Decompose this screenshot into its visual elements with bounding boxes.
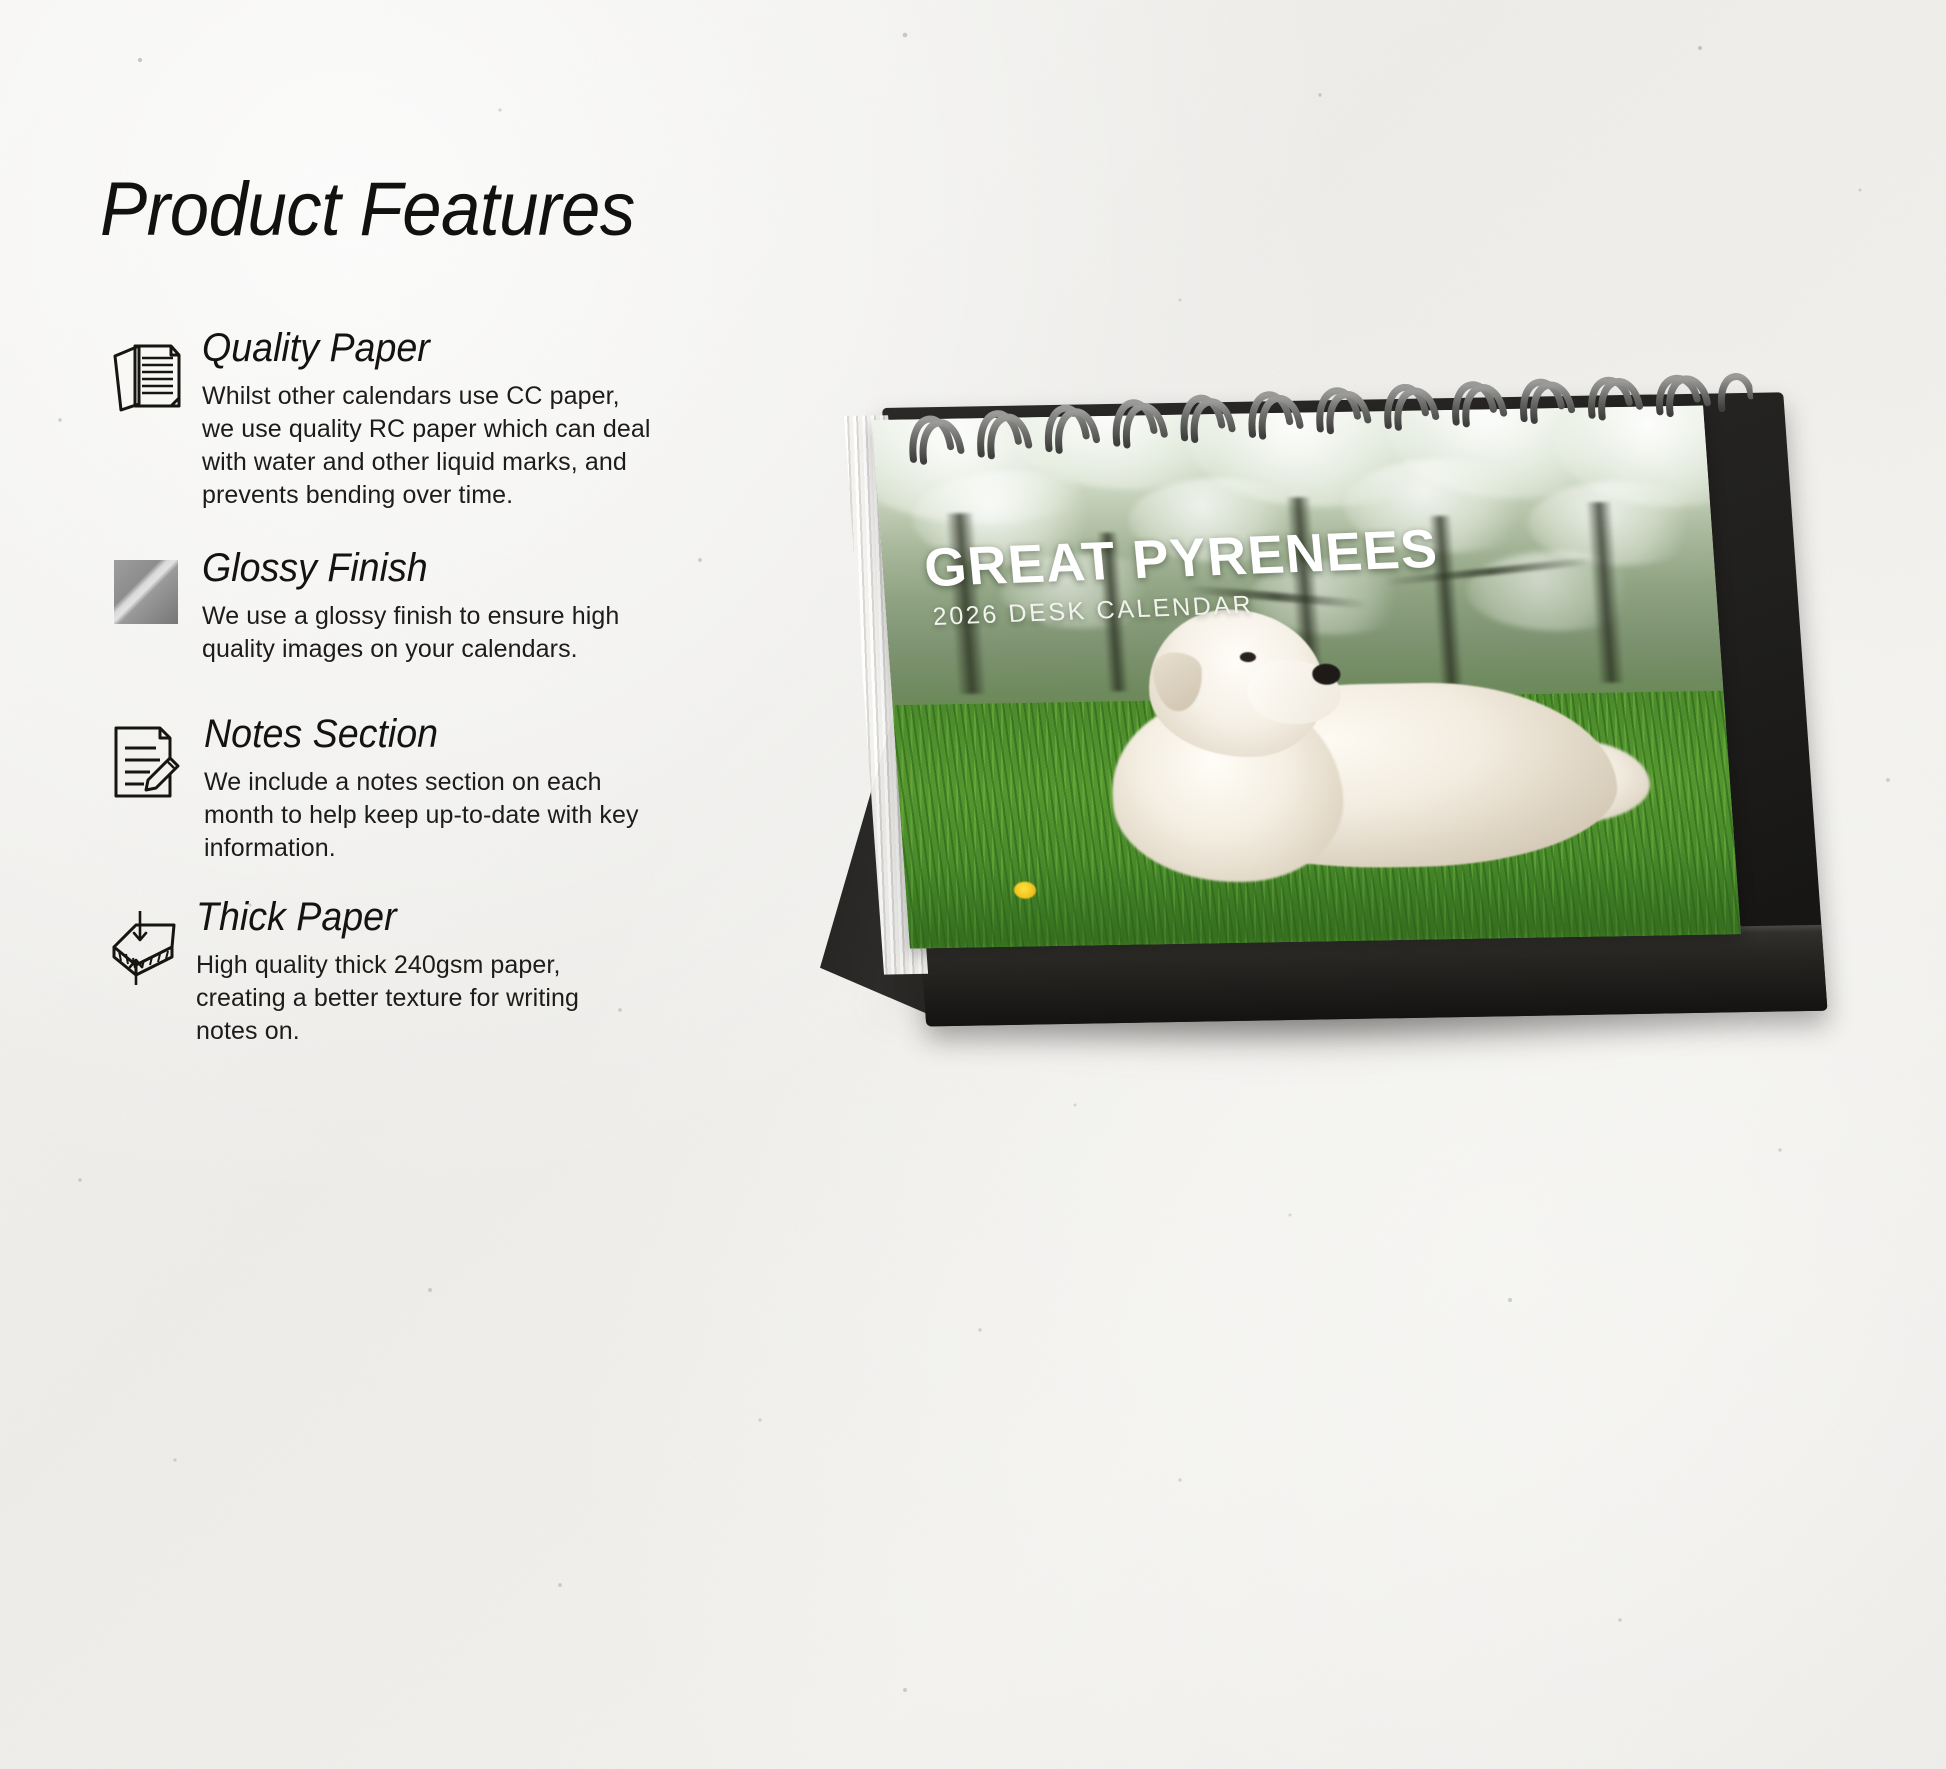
feature-item-glossy-finish: Glossy Finish We use a glossy finish to … (100, 546, 820, 666)
feature-description: We use a glossy finish to ensure high qu… (202, 600, 619, 666)
feature-item-thick-paper: Thick Paper High quality thick 240gsm pa… (100, 895, 820, 1048)
paper-thickness-icon (100, 895, 192, 987)
feature-description: We include a notes section on each month… (204, 766, 639, 865)
feature-item-quality-paper: Quality Paper Whilst other calendars use… (100, 326, 820, 512)
feature-title: Thick Paper (196, 895, 556, 939)
feature-description: High quality thick 240gsm paper, creatin… (196, 949, 579, 1048)
feature-text-block: Notes Section We include a notes section… (192, 712, 639, 865)
page-title: Product Features (100, 170, 770, 250)
feature-text-block: Thick Paper High quality thick 240gsm pa… (192, 895, 579, 1048)
great-pyrenees-dog (1077, 603, 1647, 909)
desk-calendar-mockup: GREAT PYRENEES 2026 DESK CALENDAR (820, 390, 1840, 1090)
features-column: Product Features Quality Paper Whilst ot… (100, 170, 820, 1086)
feature-text-block: Glossy Finish We use a glossy finish to … (192, 546, 619, 666)
feature-text-block: Quality Paper Whilst other calendars use… (192, 326, 651, 512)
feature-item-notes-section: Notes Section We include a notes section… (100, 712, 820, 865)
cover-text-block: GREAT PYRENEES 2026 DESK CALENDAR (921, 521, 1443, 631)
feature-title: Quality Paper (202, 326, 624, 370)
feature-description: Whilst other calendars use CC paper, we … (202, 380, 651, 512)
feature-title: Notes Section (204, 712, 613, 756)
feature-title: Glossy Finish (202, 546, 594, 590)
note-pencil-icon (100, 712, 192, 802)
stacked-documents-icon (100, 326, 192, 414)
cover-photograph: GREAT PYRENEES 2026 DESK CALENDAR (872, 405, 1741, 948)
calendar-cover-page: GREAT PYRENEES 2026 DESK CALENDAR (872, 405, 1741, 948)
glossy-swatch (114, 560, 178, 624)
glossy-square-icon (100, 546, 192, 624)
